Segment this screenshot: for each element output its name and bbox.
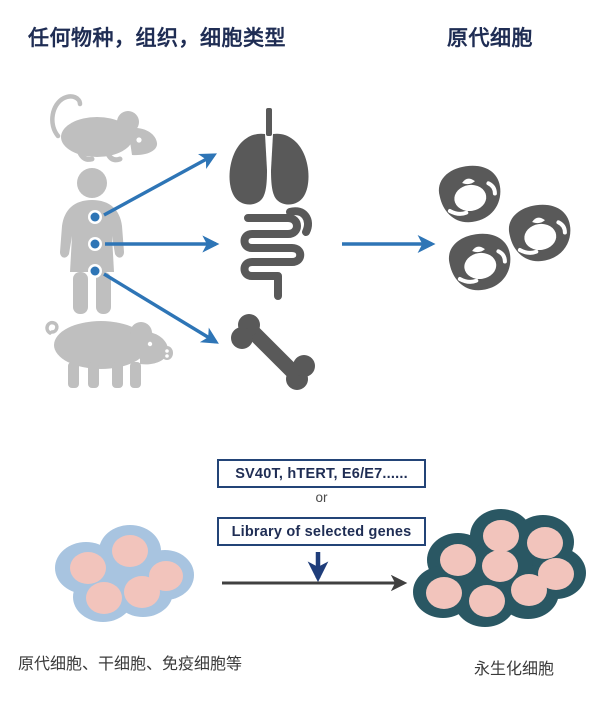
- caption-output-cells: 永生化细胞: [474, 655, 554, 679]
- caption-input-cells: 原代细胞、干细胞、免疫细胞等: [18, 650, 242, 674]
- primary-cell-cluster-icon: [436, 162, 574, 294]
- intestine-icon: [245, 211, 309, 296]
- mouse-icon: [52, 96, 157, 159]
- gene-box-gene-library[interactable]: Library of selected genes: [217, 517, 426, 546]
- top-panel-graphics: [0, 0, 603, 705]
- gene-box-classic-factors[interactable]: SV40T, hTERT, E6/E7......: [217, 459, 426, 488]
- bone-icon: [231, 314, 315, 390]
- blue-cell-cluster-icon: [55, 525, 194, 622]
- pig-icon: [47, 321, 173, 388]
- page-title-right: 原代细胞: [447, 22, 533, 52]
- diagram-canvas: 任何物种，组织，细胞类型 原代细胞: [0, 0, 603, 705]
- teal-cell-cluster-icon: [413, 509, 586, 627]
- page-title-left: 任何物种，组织，细胞类型: [28, 22, 286, 52]
- arrow-to-lungs: [104, 155, 214, 215]
- tissue-origin-dots: [88, 210, 102, 278]
- lungs-icon: [230, 108, 309, 205]
- gene-box-connector-label: or: [217, 490, 426, 505]
